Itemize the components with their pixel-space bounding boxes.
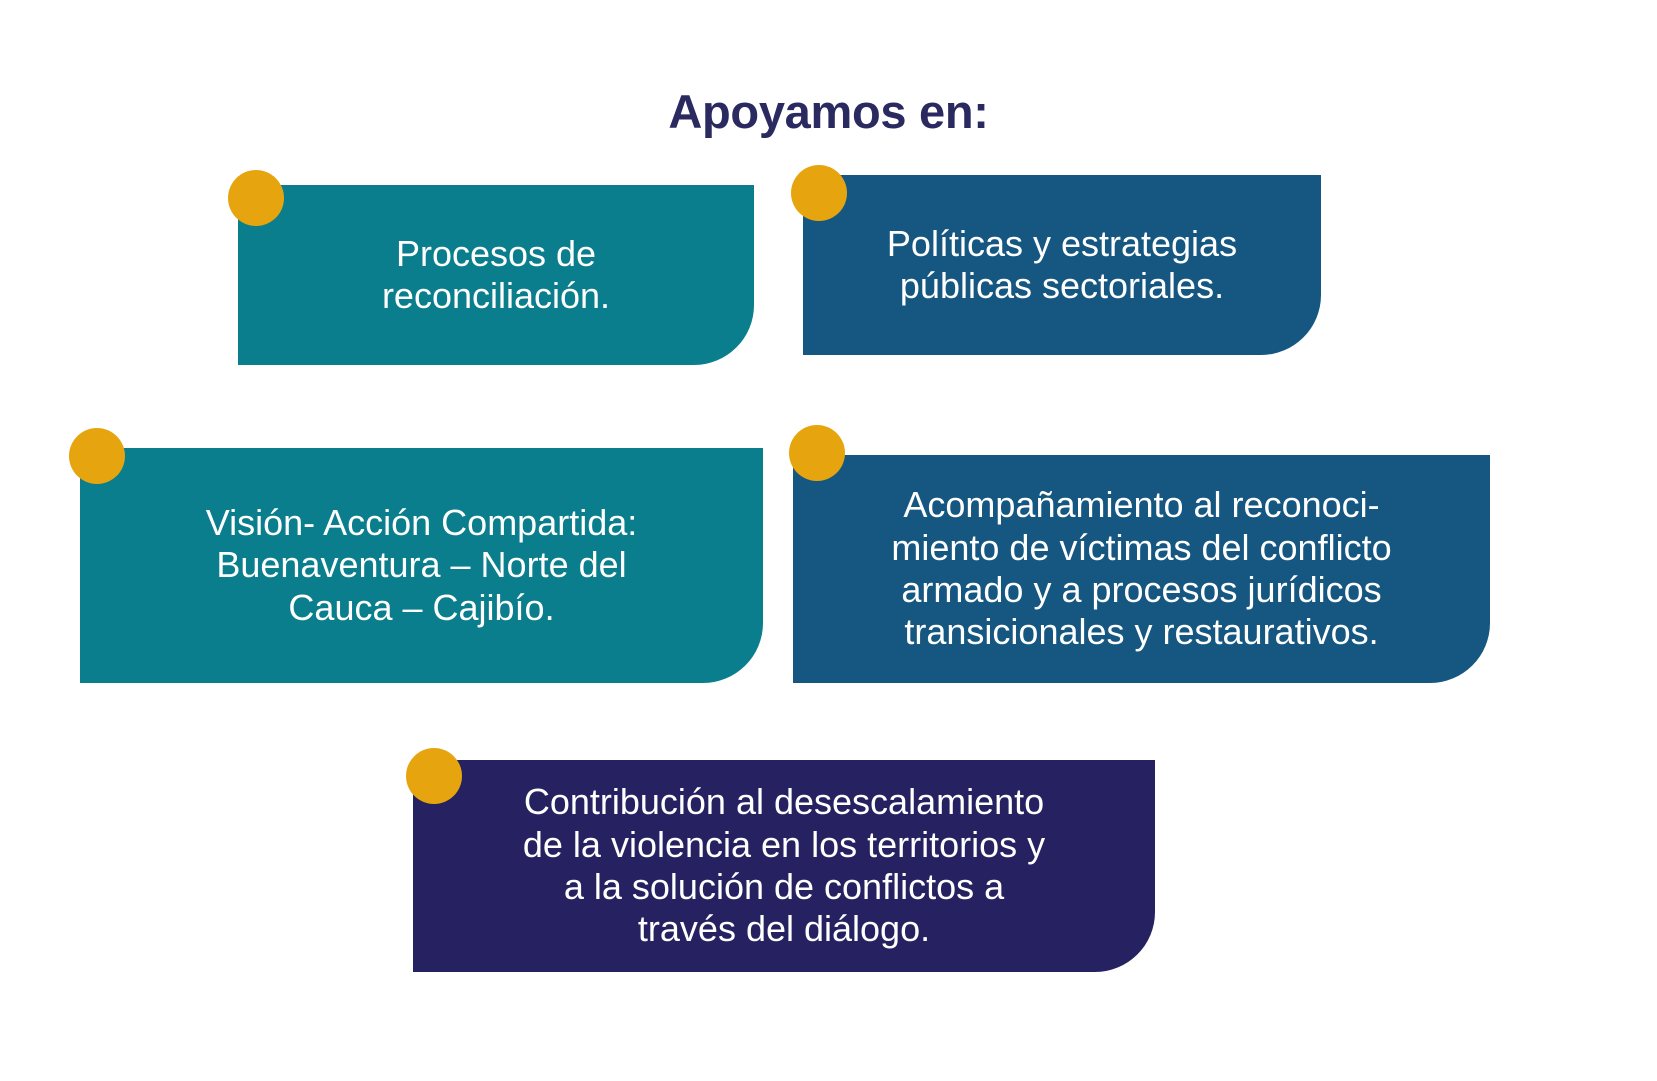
card-acompanamiento-text: Acompañamiento al reconoci- miento de ví… [807, 484, 1476, 654]
page-title: Apoyamos en: [0, 86, 1657, 138]
card-vision-accion-compartida[interactable]: Visión- Acción Compartida: Buenaventura … [80, 448, 763, 683]
bullet-dot-icon-vision [69, 428, 125, 484]
bullet-dot-icon-contribucion [406, 748, 462, 804]
card-contribucion-text: Contribución al desescalamiento de la vi… [427, 781, 1141, 951]
card-politicas[interactable]: Políticas y estrategias públicas sectori… [803, 175, 1321, 355]
card-acompanamiento[interactable]: Acompañamiento al reconoci- miento de ví… [793, 455, 1490, 683]
card-reconciliacion[interactable]: Procesos de reconciliación. [238, 185, 754, 365]
infographic-canvas: Apoyamos en: Procesos de reconciliación.… [0, 0, 1657, 1081]
card-vision-text: Visión- Acción Compartida: Buenaventura … [94, 502, 749, 629]
bullet-dot-icon-politicas [791, 165, 847, 221]
card-politicas-text: Políticas y estrategias públicas sectori… [817, 223, 1307, 308]
bullet-dot-icon-acompanamiento [789, 425, 845, 481]
card-reconciliacion-text: Procesos de reconciliación. [252, 233, 740, 318]
bullet-dot-icon-reconciliacion [228, 170, 284, 226]
card-contribucion[interactable]: Contribución al desescalamiento de la vi… [413, 760, 1155, 972]
